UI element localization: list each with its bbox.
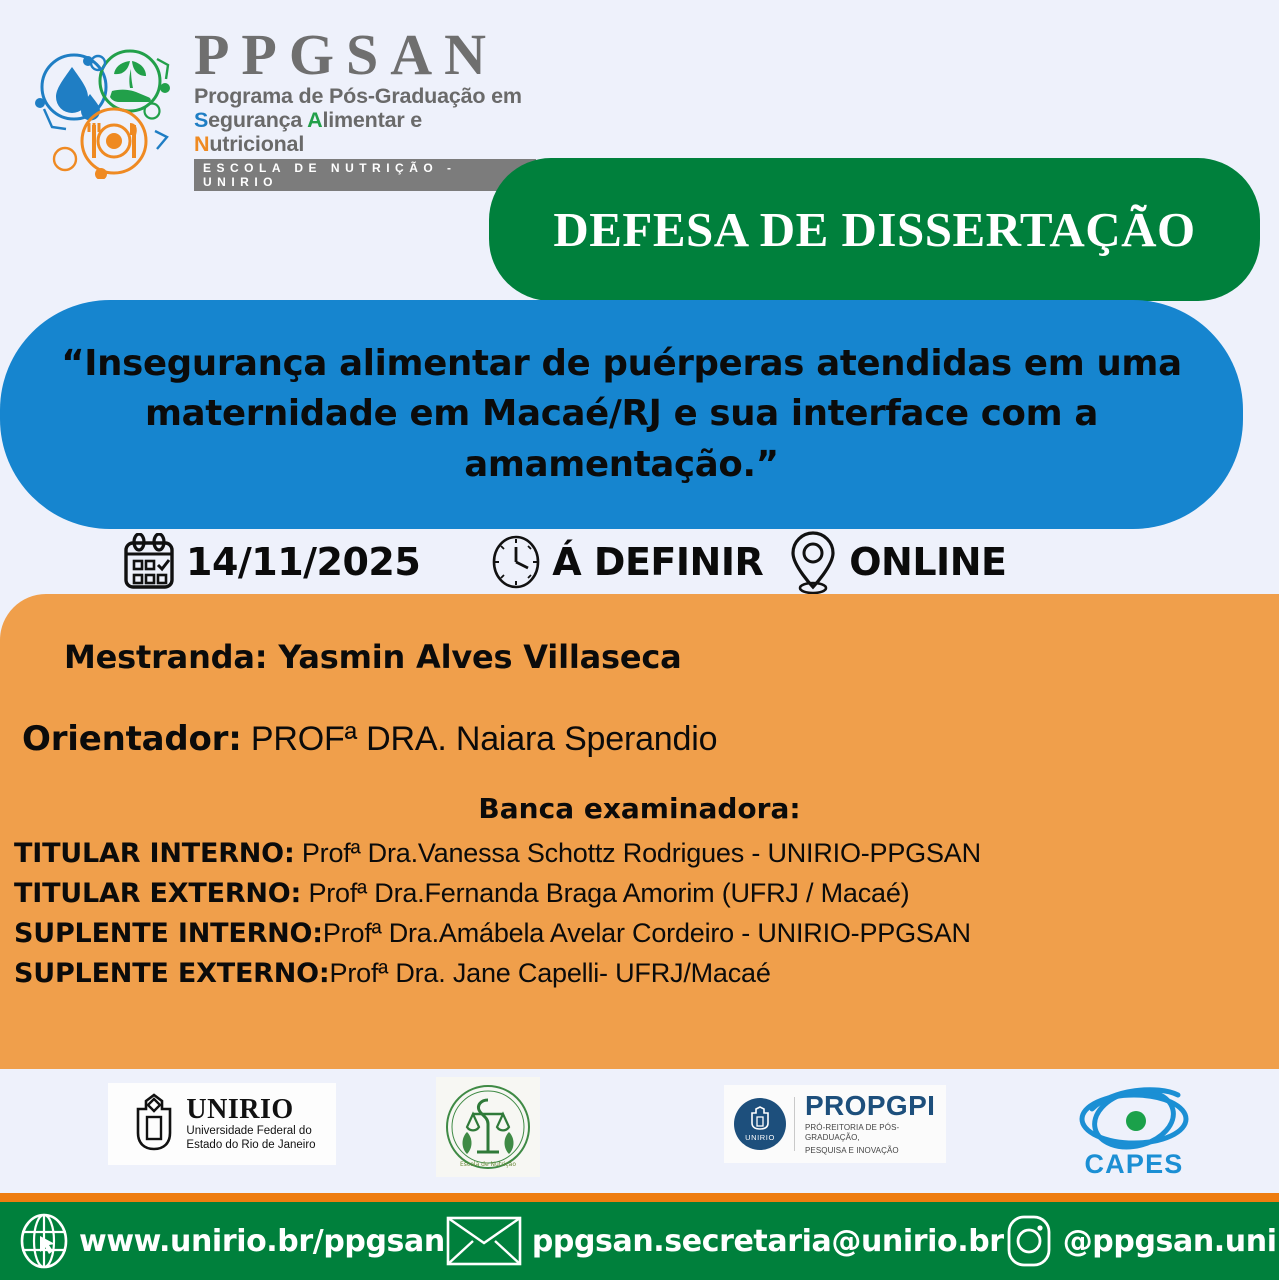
- ppgsan-subtitle-line1: Programa de Pós-Graduação em: [194, 84, 522, 108]
- poster-canvas: PPGSAN Programa de Pós-Graduação em Segu…: [0, 0, 1279, 1280]
- event-location: ONLINE: [787, 529, 1006, 595]
- event-info-row: 14/11/2025 Á DEFINIR: [0, 529, 1279, 595]
- defense-type-banner: DEFESA DE DISSERTAÇÃO: [489, 158, 1260, 301]
- board-person: Profª Dra.Vanessa Schottz Rodrigues - UN…: [295, 838, 981, 868]
- envelope-icon: [445, 1212, 523, 1270]
- logo-icons-svg: [26, 39, 186, 179]
- propgpi-text-block: PROPGPI PRÓ-REITORIA DE PÓS-GRADUAÇÃO, P…: [805, 1092, 946, 1157]
- board-role: SUPLENTE EXTERNO:: [14, 958, 330, 989]
- propgpi-sub-line2: PESQUISA E INOVAÇÃO: [805, 1146, 946, 1156]
- board-row: TITULAR EXTERNO: Profª Dra.Fernanda Brag…: [14, 874, 1269, 914]
- unirio-sub-line1: Universidade Federal do: [186, 1124, 315, 1138]
- event-time: Á DEFINIR: [490, 534, 763, 590]
- unirio-mark-icon: [128, 1093, 180, 1155]
- ppgsan-subtitle-line2: Segurança Alimentar e Nutricional: [194, 108, 536, 156]
- event-date-text: 14/11/2025: [186, 540, 420, 584]
- instagram-text: @ppgsan.unirio: [1063, 1224, 1279, 1259]
- event-date: 14/11/2025: [122, 533, 420, 591]
- propgpi-logo: UNIRIO PROPGPI PRÓ-REITORIA DE PÓS-GRADU…: [724, 1085, 946, 1163]
- ppgsan-logo-mark: [26, 39, 186, 179]
- propgpi-badge-label: UNIRIO: [745, 1133, 775, 1142]
- capes-logo: CAPES: [1064, 1075, 1204, 1185]
- board-title: Banca examinadora:: [0, 792, 1279, 825]
- propgpi-word: PROPGPI: [805, 1092, 946, 1120]
- ppgsan-school-line: ESCOLA DE NUTRIÇÃO - UNIRIO: [194, 159, 536, 191]
- board-person: Profª Dra. Jane Capelli- UFRJ/Macaé: [330, 958, 771, 988]
- student-label: Mestranda:: [64, 638, 267, 676]
- details-panel: Mestranda: Yasmin Alves Villaseca Orient…: [0, 594, 1279, 1069]
- ppgsan-logo-text: PPGSAN Programa de Pós-Graduação em Segu…: [194, 27, 536, 191]
- instagram-icon: [1004, 1212, 1054, 1270]
- word-nutricional: utricional: [209, 132, 304, 156]
- advisor-label: Orientador:: [22, 719, 242, 759]
- thesis-title: “Insegurança alimentar de puérperas aten…: [44, 339, 1199, 490]
- sponsor-logo-strip: UNIRIO Universidade Federal do Estado do…: [0, 1069, 1279, 1193]
- email-text: ppgsan.secretaria@unirio.br: [532, 1224, 1004, 1259]
- nutrition-seal-icon: Escola de Nutrição: [443, 1082, 533, 1172]
- word-alimentar: limentar e: [322, 108, 422, 132]
- propgpi-sub-line1: PRÓ-REITORIA DE PÓS-GRADUAÇÃO,: [805, 1123, 946, 1143]
- thesis-title-block: “Insegurança alimentar de puérperas aten…: [0, 300, 1243, 529]
- board-row: SUPLENTE INTERNO:Profª Dra.Amábela Avela…: [14, 914, 1269, 954]
- ppgsan-acronym: PPGSAN: [194, 27, 498, 84]
- calendar-icon: [122, 533, 176, 591]
- unirio-logo: UNIRIO Universidade Federal do Estado do…: [108, 1083, 336, 1165]
- board-person: Profª Dra.Fernanda Braga Amorim (UFRJ / …: [301, 878, 909, 908]
- contact-instagram[interactable]: @ppgsan.unirio: [1004, 1212, 1279, 1270]
- contact-website[interactable]: www.unirio.br/ppgsan: [18, 1212, 445, 1270]
- letter-s: S: [194, 108, 208, 132]
- letter-a: A: [307, 108, 322, 132]
- student-line: Mestranda: Yasmin Alves Villaseca: [64, 638, 682, 676]
- unirio-name: UNIRIO: [186, 1096, 315, 1124]
- board-role: SUPLENTE INTERNO:: [14, 918, 323, 949]
- capes-word: CAPES: [1084, 1149, 1183, 1180]
- propgpi-unirio-badge: UNIRIO: [734, 1098, 786, 1150]
- advisor-line: Orientador: PROFª DRA. Naiara Sperandio: [22, 719, 717, 759]
- orange-divider: [0, 1193, 1279, 1202]
- website-text: www.unirio.br/ppgsan: [79, 1224, 445, 1259]
- word-seguranca: egurança: [208, 108, 307, 132]
- unirio-text-block: UNIRIO Universidade Federal do Estado do…: [186, 1096, 315, 1152]
- board-row: SUPLENTE EXTERNO:Profª Dra. Jane Capelli…: [14, 954, 1269, 994]
- board-role: TITULAR INTERNO:: [14, 838, 295, 869]
- board-person: Profª Dra.Amábela Avelar Cordeiro - UNIR…: [323, 918, 971, 948]
- svg-text:Escola de Nutrição: Escola de Nutrição: [460, 1161, 516, 1168]
- unirio-logo-inner: UNIRIO Universidade Federal do Estado do…: [128, 1093, 315, 1155]
- event-location-text: ONLINE: [849, 540, 1006, 584]
- map-pin-icon: [787, 529, 839, 595]
- advisor-name: PROFª DRA. Naiara Sperandio: [251, 720, 717, 758]
- board-list: TITULAR INTERNO: Profª Dra.Vanessa Schot…: [14, 834, 1269, 994]
- unirio-sub-line2: Estado do Rio de Janeiro: [186, 1138, 315, 1152]
- globe-icon: [18, 1212, 70, 1270]
- capes-mark-icon: [1072, 1081, 1197, 1153]
- clock-icon: [490, 534, 542, 590]
- contact-bar: www.unirio.br/ppgsan ppgsan.secretaria@u…: [0, 1202, 1279, 1280]
- letter-n: N: [194, 132, 209, 156]
- board-row: TITULAR INTERNO: Profª Dra.Vanessa Schot…: [14, 834, 1269, 874]
- event-time-text: Á DEFINIR: [552, 540, 763, 584]
- nutrition-school-seal: Escola de Nutrição: [436, 1077, 540, 1177]
- ppgsan-logo: PPGSAN Programa de Pós-Graduação em Segu…: [26, 34, 536, 184]
- defense-type-label: DEFESA DE DISSERTAÇÃO: [553, 201, 1195, 258]
- board-role: TITULAR EXTERNO:: [14, 878, 301, 909]
- student-name: Yasmin Alves Villaseca: [278, 638, 681, 676]
- contact-email[interactable]: ppgsan.secretaria@unirio.br: [445, 1212, 1004, 1270]
- propgpi-mark-icon: [748, 1106, 772, 1132]
- propgpi-divider: [794, 1097, 795, 1151]
